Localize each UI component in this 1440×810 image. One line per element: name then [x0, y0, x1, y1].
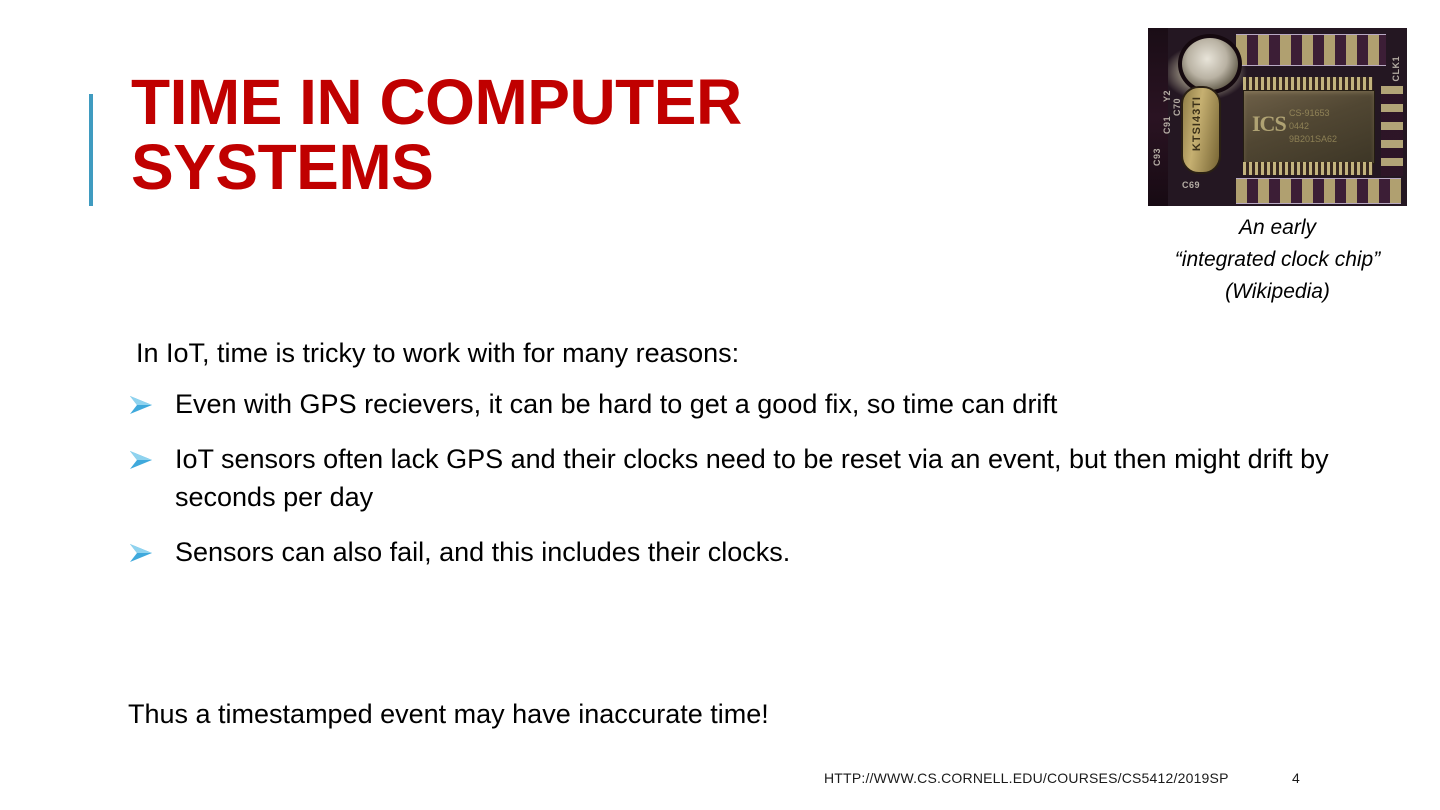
- figure-clock-chip: KTSI43TI ICS CS-91653 0442 9B201SA62 C93…: [1148, 28, 1407, 308]
- footer-course-url: http://www.cs.cornell.edu/courses/cs5412…: [824, 770, 1229, 786]
- arrow-bullet-icon: [128, 394, 154, 416]
- page-title: Time in computer systems: [131, 70, 1031, 201]
- list-item-label: IoT sensors often lack GPS and their clo…: [175, 444, 1329, 512]
- pcb-crystal-label: KTSI43TI: [1191, 96, 1203, 151]
- pcb-silk-c70: C70: [1172, 98, 1182, 116]
- pcb-crystal-oscillator: KTSI43TI: [1181, 86, 1221, 174]
- slide: Time in computer systems KTSI43TI ICS CS…: [0, 0, 1440, 810]
- figure-caption: An early “integrated clock chip” (Wikipe…: [1148, 212, 1407, 308]
- pcb-smd-row-bottom: [1236, 178, 1401, 204]
- pcb-silk-c93: C93: [1152, 148, 1162, 166]
- pcb-chip-part-number: CS-91653 0442 9B201SA62: [1289, 107, 1337, 146]
- list-item: Sensors can also fail, and this includes…: [128, 533, 1398, 571]
- pcb-right-pads: [1381, 86, 1403, 176]
- title-accent-bar: [89, 94, 93, 206]
- pcb-silk-c91: C91: [1162, 116, 1172, 134]
- pcb-silk-y2: Y2: [1162, 90, 1172, 102]
- pcb-chip-pins-bottom: [1243, 162, 1373, 175]
- pcb-smd-row-top: [1236, 34, 1386, 66]
- arrow-bullet-icon: [128, 449, 154, 471]
- circuit-board-image: KTSI43TI ICS CS-91653 0442 9B201SA62 C93…: [1148, 28, 1407, 206]
- arrow-bullet-icon: [128, 542, 154, 564]
- slide-footer: http://www.cs.cornell.edu/courses/cs5412…: [0, 770, 1440, 798]
- list-item: Even with GPS recievers, it can be hard …: [128, 385, 1398, 423]
- pcb-chip-logo: ICS: [1252, 111, 1286, 137]
- pcb-silk-c69: C69: [1182, 180, 1200, 190]
- list-item: IoT sensors often lack GPS and their clo…: [128, 440, 1398, 516]
- lead-paragraph: In IoT, time is tricky to work with for …: [136, 333, 1398, 373]
- footer-page-number: 4: [1292, 770, 1300, 786]
- bullet-list: Even with GPS recievers, it can be hard …: [128, 385, 1398, 571]
- pcb-chip-pins-top: [1243, 77, 1373, 90]
- list-item-label: Even with GPS recievers, it can be hard …: [175, 389, 1057, 419]
- pcb-capacitor: [1178, 34, 1242, 94]
- body-content: In IoT, time is tricky to work with for …: [128, 333, 1398, 588]
- pcb-silk-clk1: CLK1: [1391, 56, 1401, 82]
- list-item-label: Sensors can also fail, and this includes…: [175, 537, 790, 567]
- pcb-integrated-clock-chip: ICS CS-91653 0442 9B201SA62: [1243, 90, 1375, 164]
- closing-paragraph: Thus a timestamped event may have inaccu…: [128, 694, 769, 734]
